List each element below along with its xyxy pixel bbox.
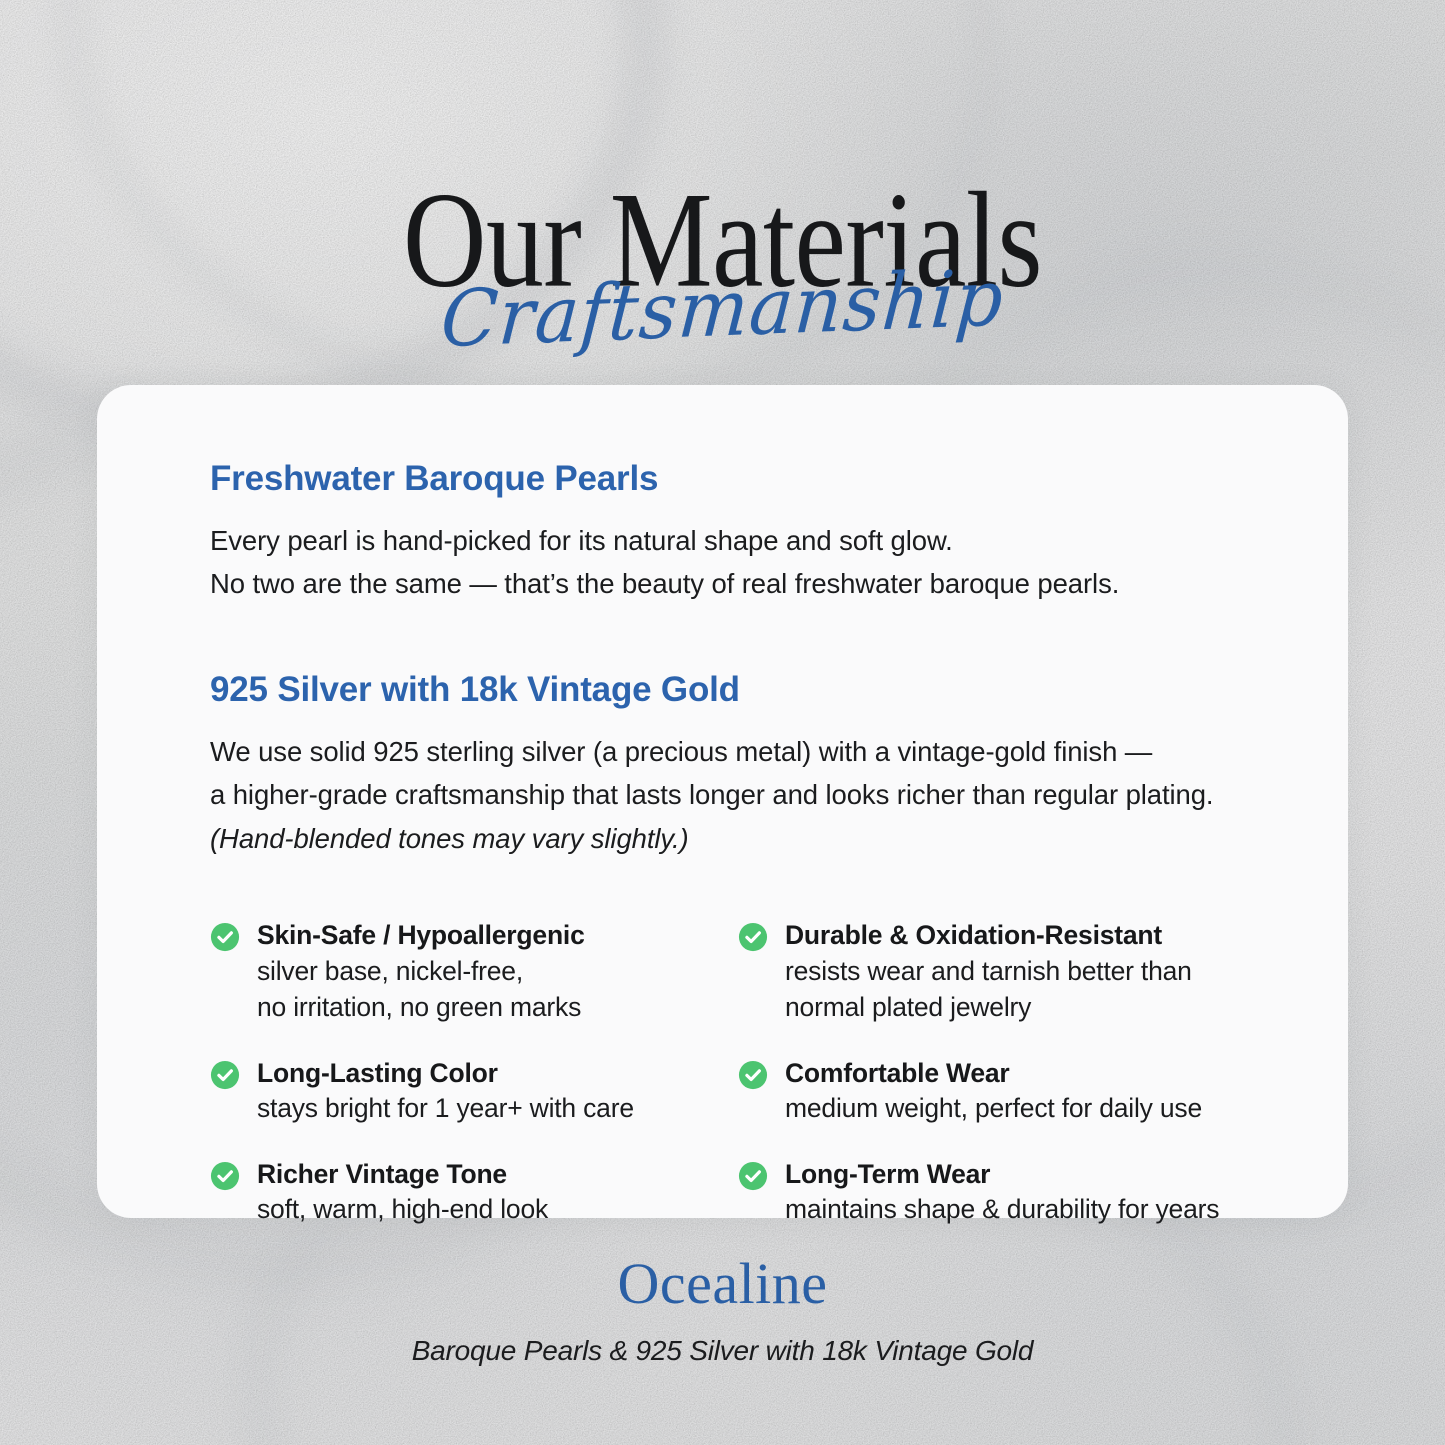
feature-text: Long-Lasting Color stays bright for 1 ye… — [257, 1056, 634, 1127]
feature-desc-line: medium weight, perfect for daily use — [785, 1093, 1202, 1123]
feature-text: Skin-Safe / Hypoallergenic silver base, … — [257, 918, 585, 1026]
section-body-line: No two are the same — that’s the beauty … — [210, 568, 1119, 599]
brand-tagline: Baroque Pearls & 925 Silver with 18k Vin… — [0, 1335, 1445, 1367]
feature-desc: silver base, nickel-free, no irritation,… — [257, 953, 585, 1026]
materials-card: Freshwater Baroque Pearls Every pearl is… — [97, 385, 1348, 1218]
check-circle-icon — [210, 1161, 240, 1191]
section-heading: Freshwater Baroque Pearls — [210, 460, 1288, 499]
feature-title: Long-Lasting Color — [257, 1056, 634, 1090]
materials-poster: Our Materials Craftsmanship Freshwater B… — [0, 0, 1445, 1445]
section-freshwater-pearls: Freshwater Baroque Pearls Every pearl is… — [210, 460, 1288, 605]
section-silver-gold: 925 Silver with 18k Vintage Gold We use … — [210, 671, 1288, 860]
check-circle-icon — [210, 1060, 240, 1090]
feature-text: Long-Term Wear maintains shape & durabil… — [785, 1157, 1219, 1228]
poster-header: Our Materials Craftsmanship — [0, 0, 1445, 380]
feature-title: Skin-Safe / Hypoallergenic — [257, 918, 585, 952]
section-body-line: a higher-grade craftsmanship that lasts … — [210, 779, 1213, 810]
section-heading: 925 Silver with 18k Vintage Gold — [210, 671, 1288, 710]
feature-text: Comfortable Wear medium weight, perfect … — [785, 1056, 1202, 1127]
feature-desc-line: resists wear and tarnish better than — [785, 956, 1192, 986]
feature-text: Durable & Oxidation-Resistant resists we… — [785, 918, 1192, 1026]
list-item: Skin-Safe / Hypoallergenic silver base, … — [210, 918, 738, 1026]
list-item: Comfortable Wear medium weight, perfect … — [738, 1056, 1288, 1127]
feature-desc-line: maintains shape & durability for years — [785, 1194, 1219, 1224]
section-body-line: Every pearl is hand-picked for its natur… — [210, 525, 953, 556]
feature-title: Comfortable Wear — [785, 1056, 1202, 1090]
feature-desc: stays bright for 1 year+ with care — [257, 1090, 634, 1127]
feature-list: Skin-Safe / Hypoallergenic silver base, … — [210, 918, 1288, 1228]
section-body-line: We use solid 925 sterling silver (a prec… — [210, 736, 1152, 767]
list-item: Long-Lasting Color stays bright for 1 ye… — [210, 1056, 738, 1127]
feature-desc-line: silver base, nickel-free, — [257, 956, 523, 986]
list-item: Durable & Oxidation-Resistant resists we… — [738, 918, 1288, 1026]
feature-desc: medium weight, perfect for daily use — [785, 1090, 1202, 1127]
check-circle-icon — [738, 1161, 768, 1191]
list-item: Long-Term Wear maintains shape & durabil… — [738, 1157, 1288, 1228]
feature-desc: soft, warm, high-end look — [257, 1191, 548, 1228]
brand-name: Ocealine — [0, 1255, 1445, 1313]
check-circle-icon — [738, 922, 768, 952]
check-circle-icon — [738, 1060, 768, 1090]
feature-desc-line: no irritation, no green marks — [257, 992, 581, 1022]
section-body-note: (Hand-blended tones may vary slightly.) — [210, 823, 689, 854]
feature-desc-line: soft, warm, high-end look — [257, 1194, 548, 1224]
poster-footer: Ocealine Baroque Pearls & 925 Silver wit… — [0, 1255, 1445, 1367]
feature-title: Long-Term Wear — [785, 1157, 1219, 1191]
feature-title: Richer Vintage Tone — [257, 1157, 548, 1191]
check-circle-icon — [210, 922, 240, 952]
feature-title: Durable & Oxidation-Resistant — [785, 918, 1192, 952]
feature-text: Richer Vintage Tone soft, warm, high-end… — [257, 1157, 548, 1228]
feature-desc: resists wear and tarnish better than nor… — [785, 953, 1192, 1026]
section-body: Every pearl is hand-picked for its natur… — [210, 519, 1288, 606]
list-item: Richer Vintage Tone soft, warm, high-end… — [210, 1157, 738, 1228]
feature-desc: maintains shape & durability for years — [785, 1191, 1219, 1228]
feature-desc-line: normal plated jewelry — [785, 992, 1031, 1022]
section-body: We use solid 925 sterling silver (a prec… — [210, 730, 1288, 860]
feature-desc-line: stays bright for 1 year+ with care — [257, 1093, 634, 1123]
